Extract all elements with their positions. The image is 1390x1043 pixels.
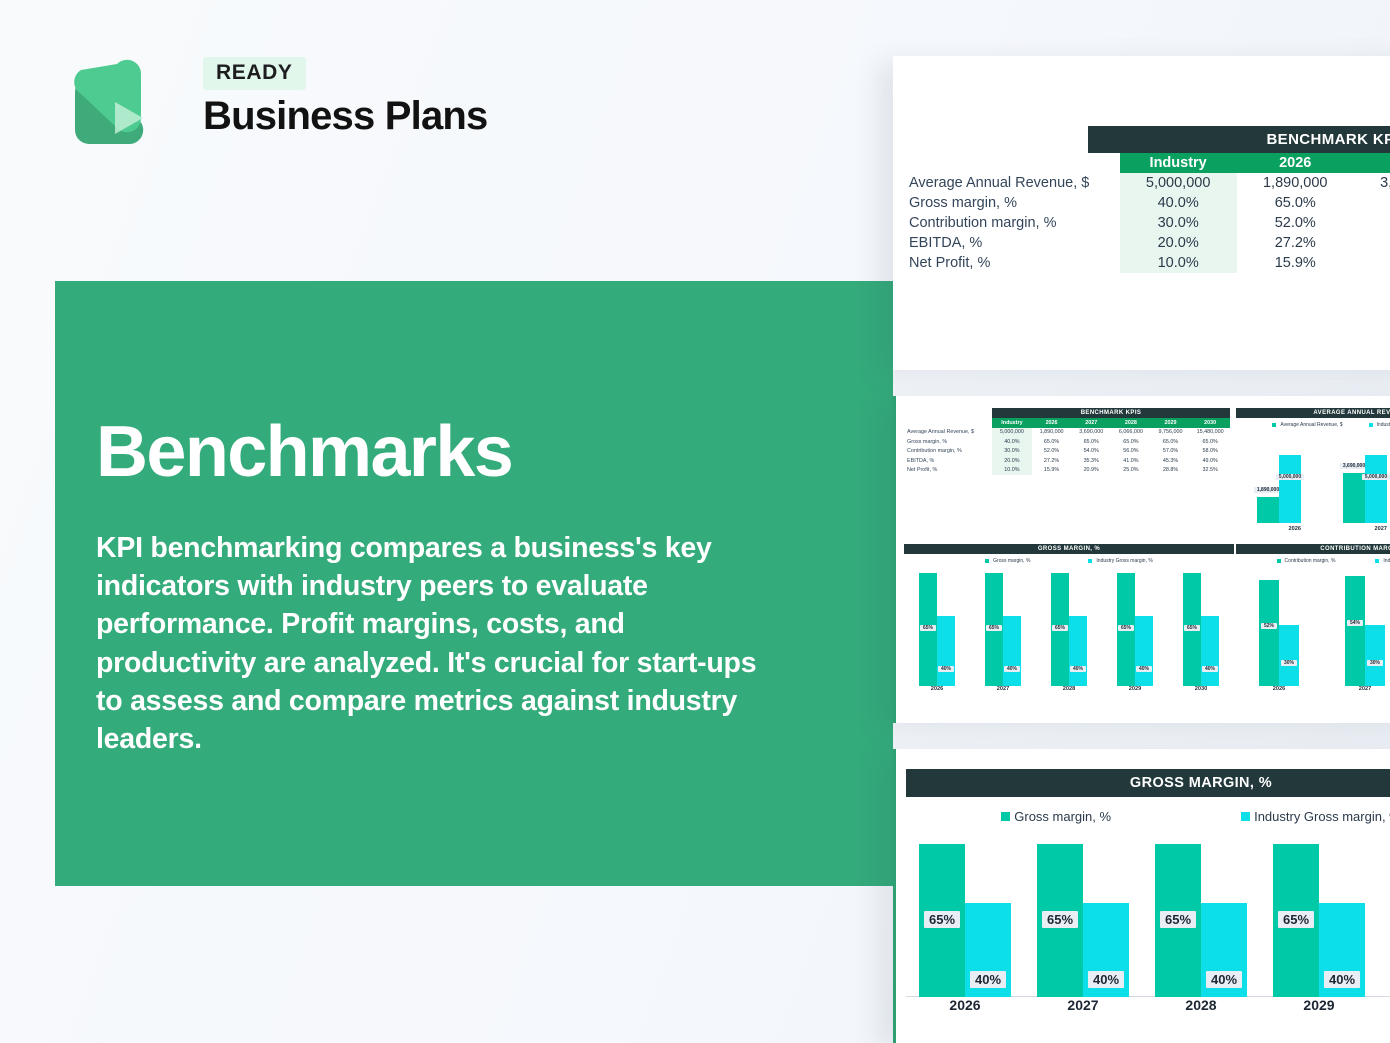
table-cell: 35.3% <box>1071 456 1111 466</box>
table-cell: 30.0% <box>992 447 1032 457</box>
table-cell: 52.0% <box>1237 213 1354 233</box>
bar-group: 65%40% <box>1117 564 1153 686</box>
table-cell: 20.0% <box>1120 233 1237 253</box>
chart-title: GROSS MARGIN, % <box>906 769 1390 797</box>
kpi-table: Industry20262027202820292030 Average Ann… <box>904 418 1230 475</box>
table-column-header: 2027 <box>1071 418 1111 428</box>
table-row-label: Contribution margin, % <box>904 447 992 457</box>
bar-value-label: 5,000,000 <box>1362 474 1390 480</box>
table-cell: 49.0% <box>1190 456 1230 466</box>
legend-swatch-icon <box>1277 559 1281 563</box>
table-corner-cell <box>904 418 992 428</box>
table-row-label: Gross margin, % <box>904 437 992 447</box>
bar-value-label: 30% <box>1367 660 1383 666</box>
bar-group: 3,690,0005,000,0002027 <box>1343 428 1387 532</box>
chart-plot-area: 65%40%65%40%65%40%65%40%65%40% <box>906 832 1390 997</box>
bar: 5,000,000 <box>1279 455 1301 523</box>
hero-description: KPI benchmarking compares a business's k… <box>96 529 766 758</box>
table-cell: 20.9% <box>1071 466 1111 476</box>
legend-swatch-icon <box>985 559 989 563</box>
bar-group: 65%40% <box>1155 832 1247 997</box>
table-row-label: Gross margin, % <box>903 193 1120 213</box>
table-cell: 52.0% <box>1032 447 1072 457</box>
table-cell: 54.0% <box>1071 447 1111 457</box>
table-row-label: Net Profit, % <box>903 253 1120 273</box>
bar: 65% <box>1183 573 1201 686</box>
chart-x-axis-labels: 20262027202820292030 <box>904 686 1234 692</box>
average-annual-revenue-chart: AVERAGE ANNUAL REVENUE, $ Average Annual… <box>1236 408 1390 566</box>
bar-value-label: 65% <box>1118 625 1134 631</box>
legend-swatch-icon <box>1001 812 1010 821</box>
bar-value-label: 40% <box>1070 666 1086 672</box>
x-axis-label: 2027 <box>1375 526 1387 532</box>
table-cell: 65.0% <box>1237 193 1354 213</box>
legend-swatch-icon <box>1088 559 1092 563</box>
table-cell: 6,066,000 <box>1111 428 1151 438</box>
table-cell: 1,890,000 <box>1237 173 1354 193</box>
table-cell: 3,690,000 <box>1071 428 1111 438</box>
bar-value-label: 40% <box>970 971 1006 988</box>
table-header-row: Industry202620272028 <box>903 153 1390 173</box>
chart-legend: Gross margin, %Industry Gross margin, % <box>906 809 1390 824</box>
table-cell: 45.3% <box>1151 456 1191 466</box>
table-header-row: Industry20262027202820292030 <box>904 418 1230 428</box>
table-cell: 27.2% <box>1032 456 1072 466</box>
bar-value-label: 65% <box>1052 625 1068 631</box>
x-axis-label: 2027 <box>997 686 1009 692</box>
table-column-header: 2028 <box>1111 418 1151 428</box>
table-cell: 54.0% <box>1354 213 1390 233</box>
table-cell: 20.0% <box>992 456 1032 466</box>
bar: 40% <box>1201 616 1219 686</box>
bar-value-label: 40% <box>1004 666 1020 672</box>
x-axis-label: 2026 <box>949 997 980 1013</box>
bar-value-label: 40% <box>1136 666 1152 672</box>
table-cell: 65.0% <box>1071 437 1111 447</box>
bar: 40% <box>965 903 1011 997</box>
x-axis-label: 2027 <box>1067 997 1098 1013</box>
bar-value-label: 54% <box>1347 620 1363 626</box>
benchmark-kpis-table-large: BENCHMARK KPIS Industry202620272028 Aver… <box>903 126 1390 273</box>
table-cell: 65.0% <box>1354 193 1390 213</box>
bar: 40% <box>937 616 955 686</box>
table-cell: 40.0% <box>992 437 1032 447</box>
table-cell: 10.0% <box>992 466 1032 476</box>
legend-label: Gross margin, % <box>1014 809 1111 824</box>
legend-swatch-icon <box>1241 812 1250 821</box>
bar: 52% <box>1259 580 1279 686</box>
table-row: Net Profit, %10.0%15.9%20.9%25.0% <box>903 253 1390 273</box>
bar-value-label: 40% <box>938 666 954 672</box>
table-row-label: EBITDA, % <box>903 233 1120 253</box>
brand-logo[interactable]: READY Business Plans <box>55 52 455 157</box>
x-axis-label: 2029 <box>1303 997 1334 1013</box>
bar-value-label: 1,890,000 <box>1254 487 1282 493</box>
bar: 40% <box>1003 616 1021 686</box>
chart-x-axis-labels: 20262027202820292030 <box>906 997 1390 1013</box>
bar-value-label: 5,000,000 <box>1276 474 1304 480</box>
bar: 65% <box>985 573 1003 686</box>
table-cell: 1,890,000 <box>1032 428 1072 438</box>
table-cell: 10.0% <box>1120 253 1237 273</box>
table-cell: 20.9% <box>1354 253 1390 273</box>
bar: 5,000,000 <box>1365 455 1387 523</box>
bar: 65% <box>1155 844 1201 997</box>
table-column-header: 2026 <box>1237 153 1354 173</box>
bar-group: 65%40% <box>1037 832 1129 997</box>
bar: 40% <box>1201 903 1247 997</box>
bar-value-label: 3,690,000 <box>1340 463 1368 469</box>
bar-group: 65%40% <box>1051 564 1087 686</box>
table-column-header: Industry <box>1120 153 1237 173</box>
x-axis-label: 2028 <box>1063 686 1075 692</box>
bar: 1,890,000 <box>1257 497 1279 523</box>
contribution-margin-chart-mid: CONTRIBUTION MARGIN, % Contribution marg… <box>1236 544 1390 712</box>
table-cell: 3,690,000 <box>1354 173 1390 193</box>
bar: 65% <box>1037 844 1083 997</box>
slide-canvas: READY Business Plans Benchmarks KPI benc… <box>0 0 1390 1043</box>
bar: 30% <box>1279 625 1299 686</box>
gross-margin-sheet-bottom[interactable]: GROSS MARGIN, % Gross margin, %Industry … <box>893 749 1390 1043</box>
table-column-header: 2029 <box>1151 418 1191 428</box>
benchmark-kpis-table-small: BENCHMARK KPIS Industry20262027202820292… <box>904 408 1234 475</box>
bar-group: 54%30% <box>1345 564 1385 686</box>
bar: 40% <box>1069 616 1087 686</box>
bar: 40% <box>1319 903 1365 997</box>
table-cell: 27.2% <box>1237 233 1354 253</box>
bar-group: 1,890,0005,000,0002026 <box>1257 428 1301 532</box>
bar: 65% <box>1273 844 1319 997</box>
table-cell: 5,000,000 <box>1120 173 1237 193</box>
bar-value-label: 65% <box>1042 911 1078 928</box>
gross-margin-chart-large: GROSS MARGIN, % Gross margin, %Industry … <box>906 769 1390 1031</box>
bar: 65% <box>919 844 965 997</box>
table-column-header: Industry <box>992 418 1032 428</box>
chart-title: AVERAGE ANNUAL REVENUE, $ <box>1236 408 1390 418</box>
x-axis-label: 2028 <box>1185 997 1216 1013</box>
chart-title: GROSS MARGIN, % <box>904 544 1234 554</box>
table-cell: 41.0% <box>1111 456 1151 466</box>
x-axis-label: 2026 <box>931 686 943 692</box>
table-cell: 40.0% <box>1120 193 1237 213</box>
table-cell: 58.0% <box>1190 447 1230 457</box>
table-cell: 9,756,000 <box>1151 428 1191 438</box>
x-axis-label: 2026 <box>1289 526 1301 532</box>
x-axis-label: 2030 <box>1195 686 1207 692</box>
table-cell: 15,480,000 <box>1190 428 1230 438</box>
bar-value-label: 65% <box>1160 911 1196 928</box>
legend-swatch-icon <box>1369 423 1373 427</box>
table-row: Average Annual Revenue, $5,000,0001,890,… <box>904 428 1230 438</box>
bar: 65% <box>1051 573 1069 686</box>
bar: 30% <box>1365 625 1385 686</box>
table-row: Net Profit, %10.0%15.9%20.9%25.0%28.8%32… <box>904 466 1230 476</box>
x-axis-label: 2026 <box>1273 686 1285 692</box>
gross-margin-chart-mid: GROSS MARGIN, % Gross margin, %Industry … <box>904 544 1234 712</box>
legend-swatch-icon <box>1375 559 1379 563</box>
table-row: EBITDA, %20.0%27.2%35.3%41.0% <box>903 233 1390 253</box>
table-cell: 65.0% <box>1111 437 1151 447</box>
bar: 3,690,000 <box>1343 473 1365 523</box>
play-triangle-logo-icon <box>55 52 155 152</box>
bar-value-label: 65% <box>924 911 960 928</box>
x-axis-label: 2027 <box>1359 686 1371 692</box>
table-cell: 30.0% <box>1120 213 1237 233</box>
bar-value-label: 65% <box>920 625 936 631</box>
bar: 54% <box>1345 576 1365 686</box>
kpi-table: Industry202620272028 Average Annual Reve… <box>903 153 1390 273</box>
chart-plot-area: 1,890,0005,000,00020263,690,0005,000,000… <box>1236 428 1390 532</box>
brand-badge: READY <box>203 57 306 90</box>
bar-value-label: 65% <box>1184 625 1200 631</box>
table-cell: 35.3% <box>1354 233 1390 253</box>
table-row: Gross margin, %40.0%65.0%65.0%65.0% <box>903 193 1390 213</box>
page-title: Benchmarks <box>96 416 512 488</box>
bar-group: 52%30% <box>1259 564 1299 686</box>
x-axis-label: 2029 <box>1129 686 1141 692</box>
legend-item: Industry Gross margin, % <box>1241 809 1390 824</box>
table-cell: 32.5% <box>1190 466 1230 476</box>
table-column-header: 2027 <box>1354 153 1390 173</box>
table-row: Contribution margin, %30.0%52.0%54.0%56.… <box>903 213 1390 233</box>
table-row: Average Annual Revenue, $5,000,0001,890,… <box>903 173 1390 193</box>
table-cell: 28.8% <box>1151 466 1191 476</box>
bar: 65% <box>1117 573 1135 686</box>
bar-group: 65%40% <box>919 832 1011 997</box>
table-cell: 25.0% <box>1111 466 1151 476</box>
bar-value-label: 65% <box>986 625 1002 631</box>
bar: 65% <box>919 573 937 686</box>
table-cell: 65.0% <box>1151 437 1191 447</box>
bar-value-label: 65% <box>1278 911 1314 928</box>
bar: 40% <box>1083 903 1129 997</box>
table-row: EBITDA, %20.0%27.2%35.3%41.0%45.3%49.0% <box>904 456 1230 466</box>
table-row-label: Average Annual Revenue, $ <box>904 428 992 438</box>
bar-group: 65%40% <box>985 564 1021 686</box>
chart-x-axis-labels: 202620272028 <box>1236 686 1390 692</box>
legend-swatch-icon <box>1272 423 1276 427</box>
bar-value-label: 40% <box>1324 971 1360 988</box>
table-column-header: 2030 <box>1190 418 1230 428</box>
table-cell: 15.9% <box>1237 253 1354 273</box>
table-column-header: 2026 <box>1032 418 1072 428</box>
table-cell: 65.0% <box>1190 437 1230 447</box>
chart-plot-area: 52%30%54%30%56%30% <box>1236 564 1390 686</box>
bar-value-label: 52% <box>1261 623 1277 629</box>
table-cell: 65.0% <box>1032 437 1072 447</box>
bar-value-label: 40% <box>1202 666 1218 672</box>
bar-group: 65%40% <box>1273 832 1365 997</box>
hero-panel: Benchmarks KPI benchmarking compares a b… <box>55 281 893 886</box>
bar-value-label: 30% <box>1281 660 1297 666</box>
bar-group: 65%40% <box>1183 564 1219 686</box>
table-title: BENCHMARK KPIS <box>992 408 1230 418</box>
bar-group: 65%40% <box>919 564 955 686</box>
table-row: Gross margin, %40.0%65.0%65.0%65.0%65.0%… <box>904 437 1230 447</box>
bar: 40% <box>1135 616 1153 686</box>
brand-name: Business Plans <box>203 95 487 137</box>
table-cell: 56.0% <box>1111 447 1151 457</box>
brand-wordmark: READY Business Plans <box>203 57 487 137</box>
bar-value-label: 40% <box>1206 971 1242 988</box>
chart-title: CONTRIBUTION MARGIN, % <box>1236 544 1390 554</box>
table-corner-cell <box>903 153 1120 173</box>
table-row-label: Net Profit, % <box>904 466 992 476</box>
bar-value-label: 40% <box>1088 971 1124 988</box>
table-row-label: EBITDA, % <box>904 456 992 466</box>
table-cell: 57.0% <box>1151 447 1191 457</box>
benchmark-dashboard-sheet-middle[interactable]: BENCHMARK KPIS Industry20262027202820292… <box>893 396 1390 723</box>
table-cell: 15.9% <box>1032 466 1072 476</box>
table-cell: 5,000,000 <box>992 428 1032 438</box>
benchmark-kpis-sheet-top[interactable]: BENCHMARK KPIS Industry202620272028 Aver… <box>893 56 1390 370</box>
legend-item: Gross margin, % <box>1001 809 1111 824</box>
chart-plot-area: 65%40%65%40%65%40%65%40%65%40% <box>904 564 1234 686</box>
table-title: BENCHMARK KPIS <box>1088 126 1390 153</box>
table-row: Contribution margin, %30.0%52.0%54.0%56.… <box>904 447 1230 457</box>
table-row-label: Average Annual Revenue, $ <box>903 173 1120 193</box>
table-row-label: Contribution margin, % <box>903 213 1120 233</box>
legend-label: Industry Gross margin, % <box>1254 809 1390 824</box>
